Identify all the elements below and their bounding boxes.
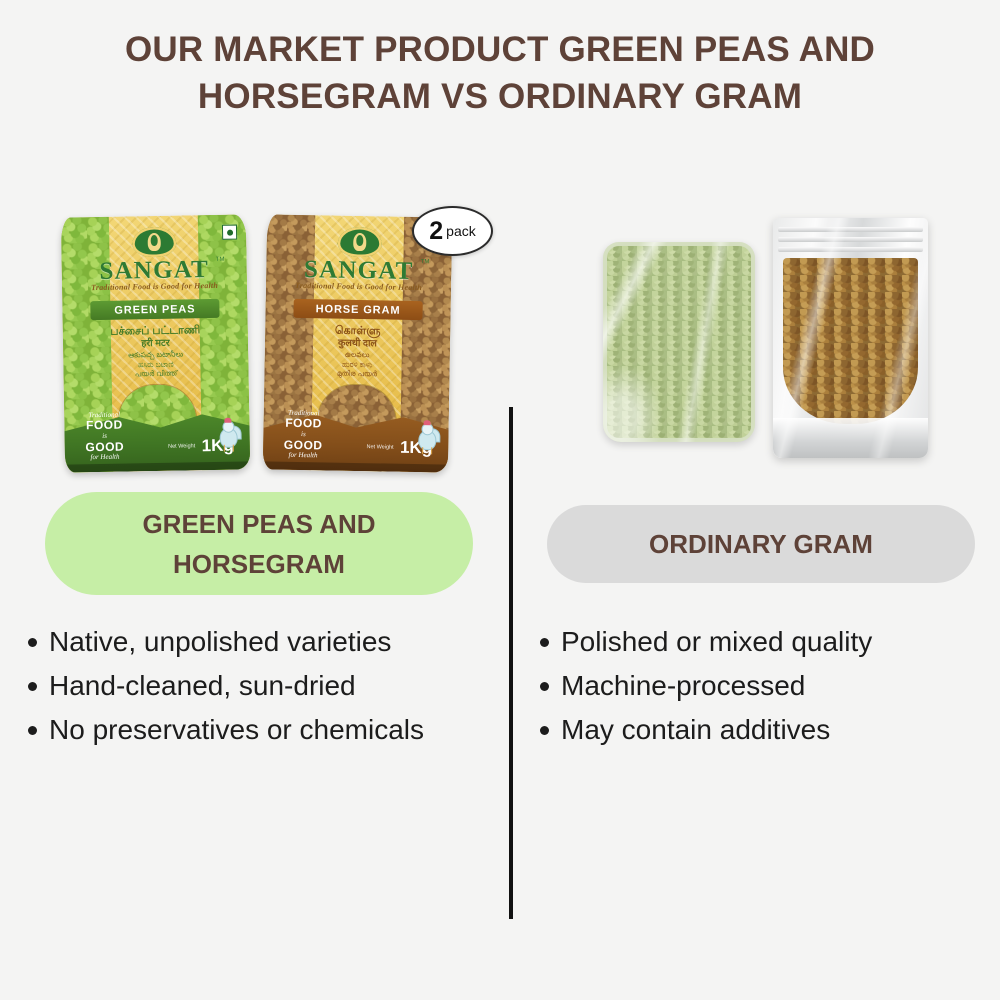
list-item-label: Native, unpolished varieties — [49, 620, 498, 664]
logo-drop-shape — [150, 235, 157, 246]
pack-variant-band-horse-gram: HORSE GRAM — [293, 299, 422, 320]
left-column-pill-label: GREEN PEAS AND HORSEGRAM — [45, 492, 473, 595]
pack-foot-slogan: Traditional FOOD is GOOD for Health — [76, 411, 133, 462]
pack-variant-band-green-peas: GREEN PEAS — [90, 299, 219, 320]
zip-seal-strip — [778, 227, 923, 232]
logo-drop-shape — [356, 235, 363, 246]
column-divider — [509, 407, 513, 919]
mascot-comb — [424, 420, 431, 425]
net-weight-label: Net Weight — [366, 444, 393, 450]
slogan-line-5: for Health — [77, 454, 133, 463]
net-weight-label: Net Weight — [168, 443, 195, 449]
right-column-pill-label: ORDINARY GRAM — [547, 505, 975, 583]
brand-trademark: TM — [216, 257, 225, 263]
list-item: Polished or mixed quality — [540, 620, 990, 664]
pack-body-horse-gram: SANGAT TM Traditional Food is Good for H… — [263, 214, 452, 472]
mascot-legs — [422, 447, 432, 454]
list-item: May contain additives — [540, 708, 990, 752]
vegetarian-mark-icon — [222, 225, 237, 240]
mascot-rooster-icon — [412, 422, 441, 454]
slogan-line-5: for Health — [275, 452, 331, 461]
product-pack-green-peas: SANGAT TM Traditional Food is Good for H… — [61, 214, 250, 472]
left-column-feature-list: Native, unpolished varieties Hand-cleane… — [28, 620, 498, 752]
pack-bottom-seal — [263, 461, 450, 472]
left-pill-line-1: GREEN PEAS AND — [142, 504, 375, 544]
zip-seal-strip — [778, 247, 923, 252]
product-pack-horse-gram: SANGAT TM Traditional Food is Good for H… — [263, 214, 452, 472]
bullet-dot-icon — [540, 638, 549, 647]
mascot-comb — [224, 418, 231, 423]
pack-bottom-seal — [63, 461, 250, 472]
bullet-dot-icon — [540, 726, 549, 735]
page-title: OUR MARKET PRODUCT GREEN PEAS AND HORSEG… — [50, 26, 950, 120]
page-title-line-2: HORSEGRAM VS ORDINARY GRAM — [50, 73, 950, 120]
pack-local-names-horse-gram: கொள்ளு कुलथी दाल ఉలవలు ಹುರಳಿ ಕಾಳು മുതിര … — [282, 323, 432, 381]
pack-foot-slogan: Traditional FOOD is GOOD for Health — [275, 409, 332, 460]
ordinary-poly-bag-green-peas — [603, 242, 755, 442]
list-item-label: No preservatives or chemicals — [49, 708, 498, 752]
sangat-logo-icon — [131, 227, 176, 258]
list-item: Machine-processed — [540, 664, 990, 708]
pack-local-names-green-peas: பச்சைப் பட்டாணி हरी मटर ఆకుపచ్చ బటానీలు … — [81, 323, 231, 381]
zip-seal-strip — [778, 237, 923, 242]
list-item-label: Machine-processed — [561, 664, 990, 708]
list-item: No preservatives or chemicals — [28, 708, 498, 752]
list-item-label: May contain additives — [561, 708, 990, 752]
two-pack-badge: 2 pack — [412, 206, 493, 256]
zip-pouch-bottom-gusset — [773, 418, 928, 458]
list-item-label: Polished or mixed quality — [561, 620, 990, 664]
premium-products-image-group: SANGAT TM Traditional Food is Good for H… — [55, 198, 495, 483]
ordinary-zip-pouch-gram — [773, 218, 928, 458]
brand-trademark: TM — [421, 259, 430, 265]
list-item: Native, unpolished varieties — [28, 620, 498, 664]
list-item-label: Hand-cleaned, sun-dried — [49, 664, 498, 708]
pack-body-green-peas: SANGAT TM Traditional Food is Good for H… — [61, 214, 250, 472]
bullet-dot-icon — [28, 638, 37, 647]
mascot-rooster-icon — [213, 420, 242, 452]
zip-pouch-gram-fill — [783, 258, 918, 424]
bullet-dot-icon — [28, 726, 37, 735]
pack-badge-count: 2 — [429, 219, 443, 244]
ordinary-products-image-group — [595, 198, 990, 483]
sangat-logo-icon — [337, 227, 382, 258]
bullet-dot-icon — [540, 682, 549, 691]
bullet-dot-icon — [28, 682, 37, 691]
right-column-feature-list: Polished or mixed quality Machine-proces… — [540, 620, 990, 752]
poly-bag-plastic-sheen — [603, 242, 755, 442]
left-pill-line-2: HORSEGRAM — [142, 544, 375, 584]
pack-badge-unit: pack — [446, 224, 476, 238]
list-item: Hand-cleaned, sun-dried — [28, 664, 498, 708]
mascot-legs — [224, 445, 234, 452]
page-title-line-1: OUR MARKET PRODUCT GREEN PEAS AND — [125, 30, 875, 69]
